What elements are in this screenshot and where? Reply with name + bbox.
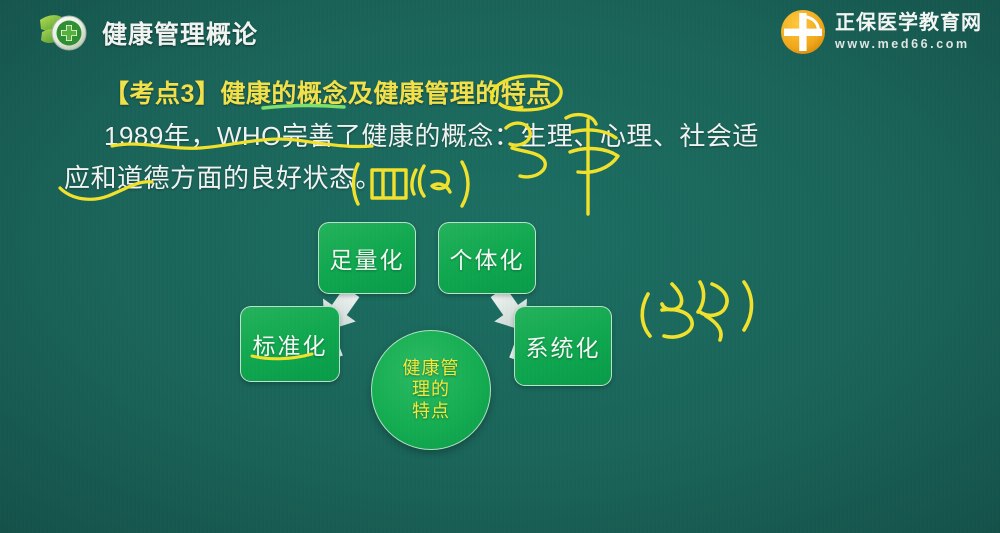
slide-canvas: 健康管理概论 正保医学教育网 www.med66.com xyxy=(0,0,1000,533)
feature-node-label: 个体化 xyxy=(450,241,525,275)
feature-node-label: 系统化 xyxy=(526,329,601,363)
feature-node-geti[interactable]: 个体化 xyxy=(438,222,536,294)
feature-node-biaozhunhua[interactable]: 标准化 xyxy=(240,306,340,382)
feature-node-label: 足量化 xyxy=(330,241,405,275)
diagram-hub[interactable]: 健康管 理的 特点 xyxy=(371,330,491,450)
hub-line-3: 特点 xyxy=(412,401,450,422)
hub-line-2: 理的 xyxy=(412,379,450,400)
hub-line-1: 健康管 xyxy=(403,358,460,379)
health-management-features-diagram: 足量化 个体化 标准化 系统化 健康管 理的 特点 xyxy=(0,0,1000,533)
feature-node-xitonghua[interactable]: 系统化 xyxy=(514,306,612,386)
feature-node-zuliang[interactable]: 足量化 xyxy=(318,222,416,294)
feature-node-label: 标准化 xyxy=(253,327,328,361)
